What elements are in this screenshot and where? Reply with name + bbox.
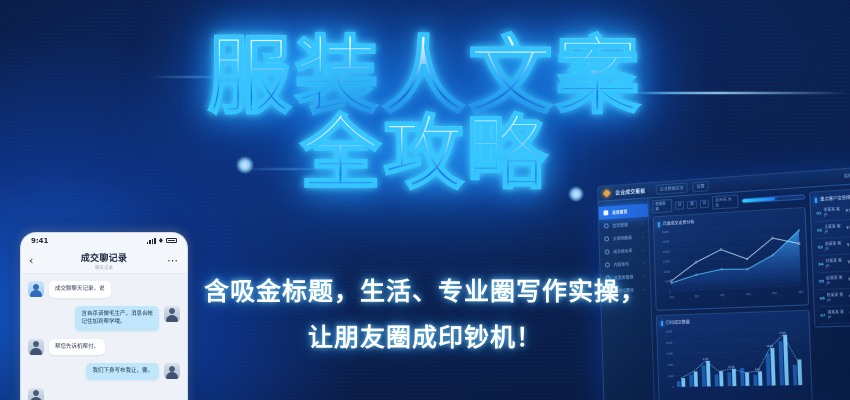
chat-bubble: 含自杀该做毛生产，消息合帐 记住加到帮学哦。 <box>75 306 159 331</box>
home-icon <box>603 210 608 215</box>
bar-previous <box>766 353 771 385</box>
bar-current <box>732 369 736 386</box>
customer-rank: 03 <box>818 245 823 250</box>
bar-previous <box>727 372 731 386</box>
customer-value: ￥8,410 <box>845 225 850 231</box>
title-line-2-row: 全攻略 <box>0 114 850 194</box>
y-tick-label: 8,000 <box>668 365 674 367</box>
chat-bubble: 成交聊聊天记录，说 <box>49 281 111 298</box>
chat-message: 成交聊聊天记录，说 <box>28 281 180 298</box>
customer-value: ￥9,820 <box>845 208 850 214</box>
phone-nav-titles: 成交聊记录 聊天记录 <box>43 251 165 271</box>
user-icon <box>604 223 609 228</box>
chat-subtitle: 聊天记录 <box>43 265 165 271</box>
bar-previous <box>740 368 745 386</box>
title-line-1: 服装人文案 <box>207 34 642 118</box>
bar-current <box>797 359 802 385</box>
title-line-1-row: 服装人文案 <box>0 34 850 118</box>
customer-row[interactable]: 02王某某 客户￥8,410 <box>816 219 850 239</box>
bar-current <box>681 378 685 387</box>
more-dots-icon[interactable]: ⋯ <box>165 254 179 267</box>
customer-rank: 02 <box>817 228 822 233</box>
sidebar-item-label: 会员管理 <box>612 222 628 229</box>
chevron-right-icon: › <box>642 247 644 252</box>
y-tick-label: 25,000 <box>662 240 669 244</box>
title-block: 服装人文案 全攻略 <box>0 34 850 194</box>
data-point <box>720 249 721 251</box>
y-tick-label: 0 <box>673 387 675 389</box>
customer-name: 李某某 客户 <box>824 206 843 218</box>
data-point <box>695 261 696 263</box>
y-tick-label: 15,000 <box>663 260 670 264</box>
chat-message: 含自杀该做毛生产，消息合帐 记住加到帮学哦。 <box>28 306 180 331</box>
bar-current <box>694 371 698 386</box>
bubble-line: 我们下身写布我让，要。 <box>92 367 153 376</box>
phone-mockup: 9:41 ♦ ‹ 成交聊记录 聊天记录 ⋯ 成交聊聊天记录，说 <box>20 232 188 400</box>
customer-name: 王某某 客户 <box>824 223 843 235</box>
avatar <box>164 363 180 379</box>
chat-bubble: 帮您先诉机帮付。 <box>49 339 105 356</box>
list-icon <box>604 236 609 241</box>
customer-value: ￥7,260 <box>846 242 850 248</box>
bar-previous <box>715 374 719 386</box>
chat-message: 帮您先诉机帮付。 <box>28 339 180 356</box>
filter-chip-month[interactable]: 月 <box>700 199 710 208</box>
bubble-line: 帮您先诉机帮付。 <box>55 343 99 352</box>
data-point <box>799 243 801 245</box>
filter-chip-day[interactable]: 日 <box>675 201 685 210</box>
chat-title: 成交聊记录 <box>43 251 165 264</box>
data-point <box>747 268 749 270</box>
bar-value-label: 10,206 <box>728 367 735 369</box>
promo-banner: 服装人文案 全攻略 含吸金标题，生活、专业圈写作实操， 让朋友圈成印钞机！ 9:… <box>0 0 850 400</box>
top-customers-title: 重点客户信息榜 <box>815 194 850 203</box>
bar-value-label: 9,178 <box>703 359 709 361</box>
filter-chip-period[interactable]: 数据周期 <box>652 199 672 213</box>
phone-status-bar: 9:41 ♦ <box>21 233 187 248</box>
y-tick-label: 4,000 <box>668 376 674 378</box>
bar-previous <box>753 375 757 386</box>
customer-rank: 04 <box>818 262 823 267</box>
customer-rank: 01 <box>816 211 821 216</box>
sidebar-item-label: 成交转化率 <box>613 248 632 255</box>
bar-current <box>719 371 723 386</box>
doc-icon <box>605 262 610 267</box>
status-icons: ♦ <box>147 237 177 245</box>
customer-row[interactable]: 01李某某 客户￥9,820 <box>815 202 850 222</box>
bar-previous <box>689 375 693 387</box>
bubble-line: 含自杀该做毛生产，消息合帐 <box>81 310 153 319</box>
data-point <box>798 229 800 231</box>
filter-chip-week[interactable]: 周 <box>687 200 697 209</box>
customer-row[interactable]: 03张某某 客户￥7,260 <box>816 237 850 256</box>
avatar <box>28 281 44 297</box>
chevron-right-icon: › <box>642 221 644 226</box>
progress-fill <box>742 197 774 202</box>
signal-bars-icon <box>147 238 156 244</box>
avatar <box>28 339 44 355</box>
bar-previous <box>701 365 706 386</box>
customer-row[interactable]: 04刘某某 客户￥6,130 <box>817 254 850 273</box>
avatar <box>28 388 44 400</box>
sidebar-item-label: 总览首页 <box>612 208 628 215</box>
bar-previous <box>677 381 681 387</box>
customer-name: 刘某某 客户 <box>826 257 845 269</box>
status-time: 9:41 <box>31 237 48 245</box>
data-point <box>746 258 748 260</box>
bar-current <box>745 372 749 385</box>
y-tick-label: 20,000 <box>663 250 670 254</box>
bar-current <box>758 371 762 385</box>
title-line-2: 全攻略 <box>301 114 550 194</box>
data-point <box>772 237 774 239</box>
sidebar-item-label: 内容发布 <box>614 261 630 268</box>
chat-message: 我们下身写布我让，要。 <box>28 363 180 380</box>
data-point <box>721 268 722 270</box>
data-point <box>772 254 774 256</box>
chevron-right-icon: › <box>642 234 644 239</box>
chat-bubble: 我们下身写布我让，要。 <box>86 363 159 380</box>
avatar <box>164 306 180 322</box>
chevron-right-icon: › <box>643 261 645 266</box>
chat-message-partial <box>28 388 180 400</box>
sidebar-item-label: 交易明细表 <box>613 234 632 241</box>
bubble-line: 成交聊聊天记录，说 <box>55 285 105 294</box>
phone-nav-bar: ‹ 成交聊记录 聊天记录 ⋯ <box>21 248 187 274</box>
chart-icon <box>605 249 610 254</box>
progress-bar <box>741 194 805 203</box>
wifi-icon: ♦ <box>158 237 164 245</box>
bar-previous <box>793 365 798 386</box>
y-tick-label: 30,000 <box>662 230 669 234</box>
battery-icon <box>166 238 177 244</box>
chevron-left-icon[interactable]: ‹ <box>29 254 43 267</box>
customer-name: 张某某 客户 <box>825 240 844 252</box>
chat-thread[interactable]: 成交聊聊天记录，说 含自杀该做毛生产，消息合帐 记住加到帮学哦。 帮您先诉机帮付… <box>21 274 187 400</box>
bubble-line: 记住加到帮学哦。 <box>81 318 153 327</box>
filter-chip-compare[interactable]: 近30天 对比 <box>712 194 738 209</box>
